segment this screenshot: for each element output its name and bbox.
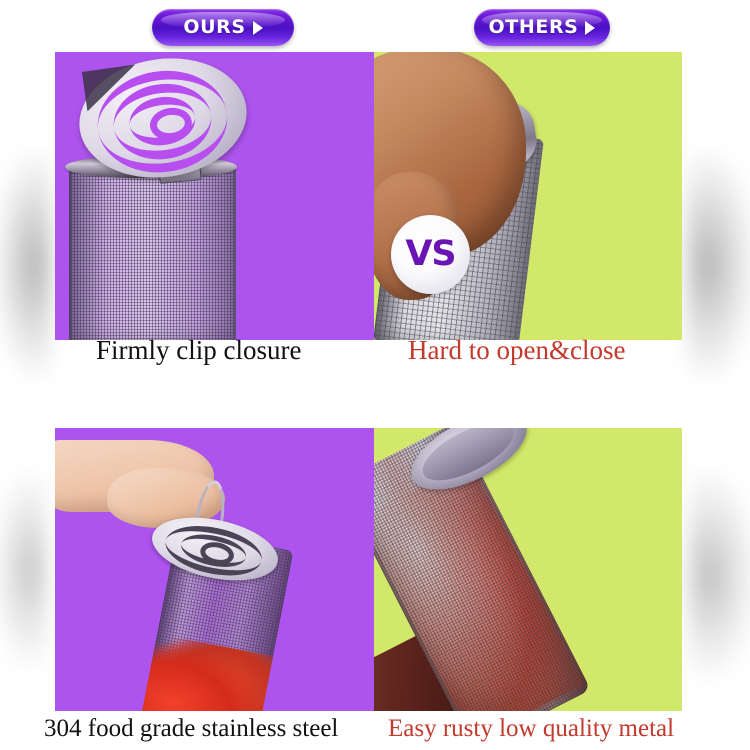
others-panel-material [374,428,682,711]
vs-marker: VS [391,215,470,294]
edge-shadow-left [0,150,52,380]
ours-caption-material: 304 food grade stainless steel [44,716,338,741]
basket-mesh-texture [71,167,234,340]
edge-shadow-right [686,150,750,380]
ours-badge-label: OURS [183,18,245,37]
others-caption-material: Easy rusty low quality metal [388,716,674,741]
ours-caption-closure: Firmly clip closure [96,337,301,364]
others-material-illustration [374,428,682,711]
play-arrow-icon [585,21,595,35]
comparison-row-material: VS [55,428,682,711]
ours-panel-material [55,428,374,711]
others-closure-illustration [374,52,682,340]
edge-shadow-left-2 [0,470,47,670]
ours-panel-closure [55,52,374,340]
comparison-row-closure: VS [55,52,682,340]
vs-label: VS [405,237,455,272]
play-arrow-icon [253,21,263,35]
others-caption-closure: Hard to open&close [408,337,625,364]
comparison-infographic: OURS OTHERS [0,0,750,750]
ours-material-illustration [55,428,374,711]
others-badge: OTHERS [474,9,610,46]
others-badge-label: OTHERS [489,18,579,37]
basket-body [69,167,236,340]
edge-shadow-right-2 [688,470,750,680]
ours-badge: OURS [152,9,294,46]
ours-closure-illustration [55,52,374,340]
others-panel-closure [374,52,682,340]
